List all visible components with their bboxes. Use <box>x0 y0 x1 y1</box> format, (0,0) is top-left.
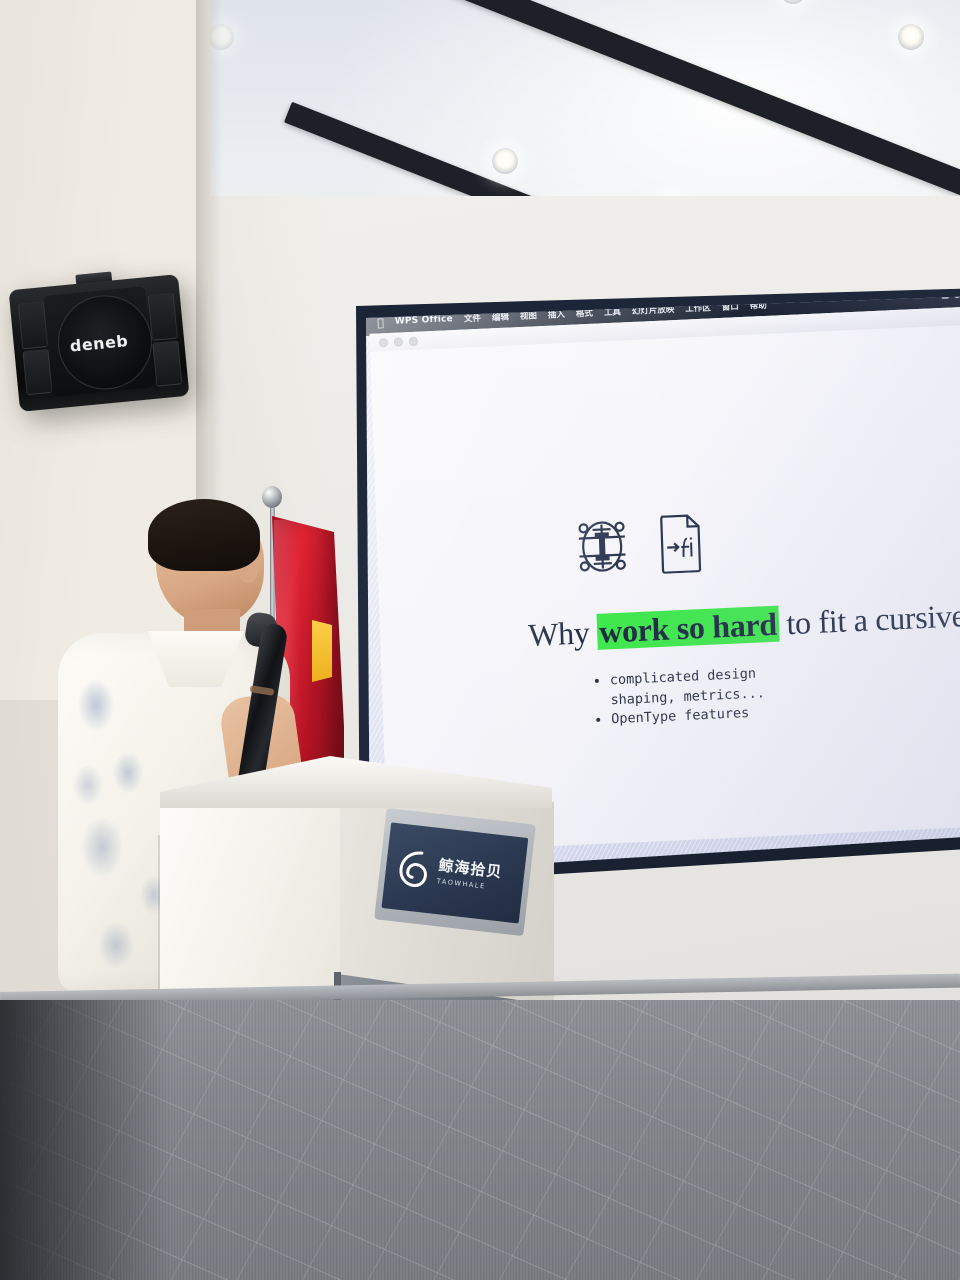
floor-shadow-left <box>0 1000 170 1280</box>
plaque-text: 鲸海拾贝 TAOWHALE <box>436 858 503 892</box>
whale-logo-icon <box>394 845 433 891</box>
podium-brand-plaque: 鲸海拾贝 TAOWHALE <box>374 808 536 936</box>
podium-top-surface <box>152 756 552 808</box>
presentation-room-photo: deneb  WPS Office 文件 编辑 视图 插入 格式 工具 幻灯片… <box>0 0 960 1280</box>
pa-speaker: deneb <box>9 274 190 412</box>
ceiling-downlight <box>898 24 924 50</box>
plaque-chinese-name: 鲸海拾贝 <box>438 858 503 880</box>
presenter-hair <box>148 499 260 571</box>
ceiling-downlight <box>492 148 518 174</box>
flag-star <box>312 620 332 682</box>
plaque-face: 鲸海拾贝 TAOWHALE <box>381 822 528 923</box>
